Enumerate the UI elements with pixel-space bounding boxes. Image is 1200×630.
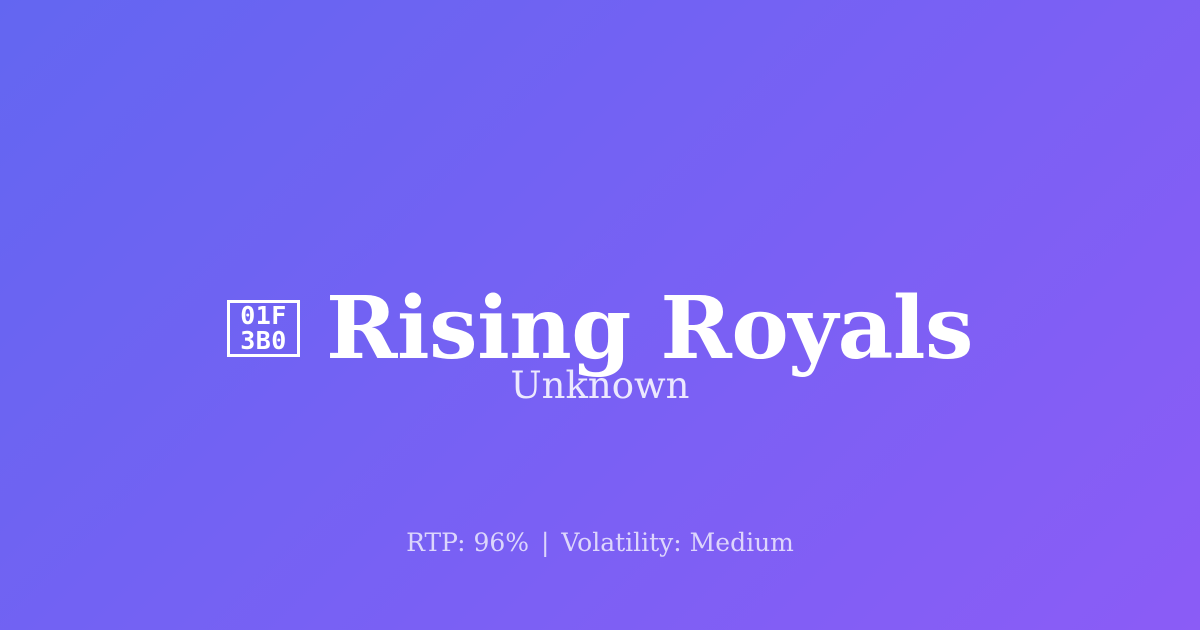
game-preview-card: 01F 3B0 Rising Royals Unknown RTP: 96% |…: [0, 0, 1200, 630]
game-provider: Unknown: [0, 364, 1200, 408]
slot-machine-icon-codepoint-lower: 3B0: [240, 328, 287, 353]
game-title: Rising Royals: [326, 286, 973, 372]
volatility-value: Volatility: Medium: [561, 528, 793, 557]
rtp-value: RTP: 96%: [406, 528, 529, 557]
game-stats: RTP: 96% | Volatility: Medium: [0, 528, 1200, 558]
slot-machine-icon-codepoint-upper: 01F: [240, 303, 287, 328]
slot-machine-icon: 01F 3B0: [227, 300, 300, 357]
stats-separator: |: [537, 528, 553, 557]
